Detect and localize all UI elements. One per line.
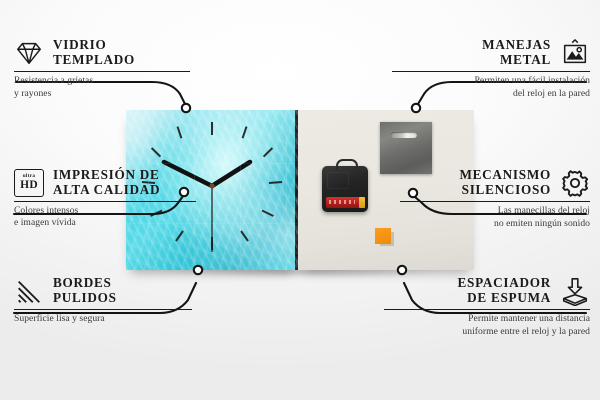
callout-title: MANEJAS METAL (482, 38, 551, 68)
callout-title: BORDES PULIDOS (53, 276, 117, 306)
callout-title: ESPACIADOR DE ESPUMA (458, 276, 551, 306)
foam-spacer-icon (560, 276, 590, 306)
callout-espaciador[interactable]: ESPACIADOR DE ESPUMA Permite mantener un… (384, 276, 590, 338)
callout-bordes[interactable]: BORDES PULIDOS Superficie lisa y segura (14, 276, 192, 326)
callout-subtitle: Colores intensos e imagen vívida (14, 205, 196, 230)
callout-header: ultra HD IMPRESIÓN DE ALTA CALIDAD (14, 168, 196, 198)
callout-title: IMPRESIÓN DE ALTA CALIDAD (53, 168, 160, 198)
callout-rule (14, 201, 196, 202)
callout-subtitle: Resistencia a grietas y rayones (14, 75, 190, 100)
connector-dot-manejas (412, 104, 420, 112)
callout-header: BORDES PULIDOS (14, 276, 192, 306)
callout-title: VIDRIO TEMPLADO (53, 38, 135, 68)
callout-title: MECANISMO SILENCIOSO (459, 168, 551, 198)
callout-rule (392, 71, 590, 72)
callout-subtitle: Permite mantener una distancia uniforme … (384, 313, 590, 338)
callout-mecanismo[interactable]: MECANISMO SILENCIOSO Las manecillas del … (400, 168, 590, 230)
callout-rule (384, 309, 590, 310)
callout-header: ESPACIADOR DE ESPUMA (384, 276, 590, 306)
callout-rule (400, 201, 590, 202)
picture-hanger-icon (560, 38, 590, 68)
callout-header: MANEJAS METAL (392, 38, 590, 68)
callout-header: VIDRIO TEMPLADO (14, 38, 190, 68)
connector-dot-vidrio (182, 104, 190, 112)
callout-header: MECANISMO SILENCIOSO (400, 168, 590, 198)
diamond-icon (14, 38, 44, 68)
polished-edge-icon (14, 276, 44, 306)
connector-dot-espaciador (398, 266, 406, 274)
callout-vidrio[interactable]: VIDRIO TEMPLADO Resistencia a grietas y … (14, 38, 190, 100)
callout-impresion[interactable]: ultra HD IMPRESIÓN DE ALTA CALIDAD Color… (14, 168, 196, 230)
callout-subtitle: Superficie lisa y segura (14, 313, 192, 326)
callout-subtitle: Permiten una fácil instalación del reloj… (392, 75, 590, 100)
gear-icon (560, 168, 590, 198)
callout-rule (14, 309, 192, 310)
ultra-hd-big-text: HD (20, 180, 38, 192)
connector-dot-bordes (194, 266, 202, 274)
infographic-canvas: VIDRIO TEMPLADO Resistencia a grietas y … (0, 0, 600, 400)
ultra-hd-icon: ultra HD (14, 169, 44, 197)
callout-manejas[interactable]: MANEJAS METAL Permiten una fácil instala… (392, 38, 590, 100)
callout-subtitle: Las manecillas del reloj no emiten ningú… (400, 205, 590, 230)
callout-rule (14, 71, 190, 72)
